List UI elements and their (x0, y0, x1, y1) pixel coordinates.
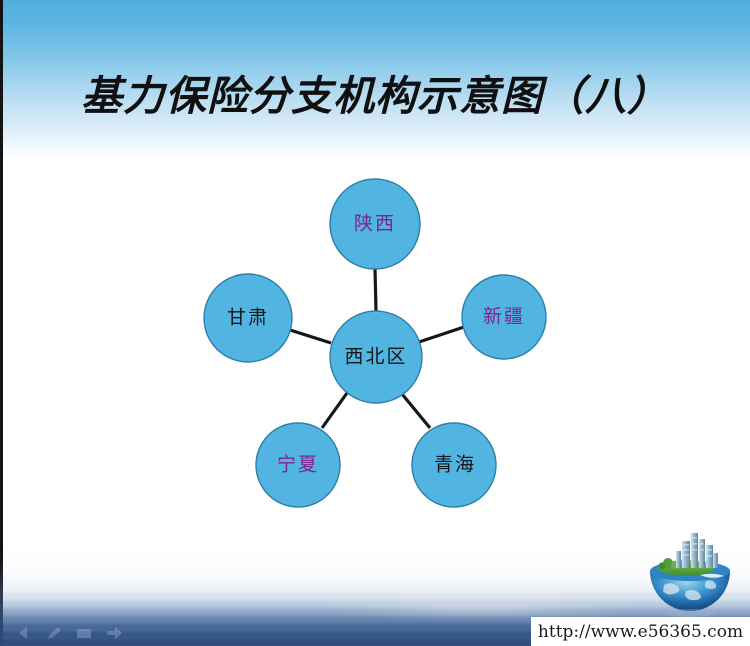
node-label-gansu: 甘肃 (227, 309, 269, 328)
node-label-shaanxi: 陕西 (354, 215, 396, 234)
node-label-xinjiang: 新疆 (483, 308, 525, 327)
website-url-bar: http://www.e56365.com (531, 617, 750, 646)
tree-cluster (659, 558, 680, 570)
page-title: 基力保险分支机构示意图（八） (0, 62, 750, 122)
node-label-ningxia: 宁夏 (277, 456, 319, 475)
slideshow-nav-controls (14, 622, 130, 644)
pen-tool-icon[interactable] (44, 625, 64, 641)
next-slide-arrow-icon[interactable] (104, 625, 124, 641)
globe-reflection (664, 609, 716, 617)
node-label-qinghai: 青海 (434, 456, 476, 475)
green-city-globe-logo (642, 527, 738, 619)
node-label-center-northwest: 西北区 (344, 348, 407, 367)
slide-menu-icon[interactable] (74, 625, 94, 641)
presentation-slide: 基力保险分支机构示意图（八） 陕西 新疆 青海 宁夏 甘肃 西北区 (0, 0, 750, 646)
city-skyline (676, 533, 718, 568)
website-url-text[interactable]: http://www.e56365.com (538, 622, 743, 642)
previous-slide-arrow-icon[interactable] (14, 625, 34, 641)
